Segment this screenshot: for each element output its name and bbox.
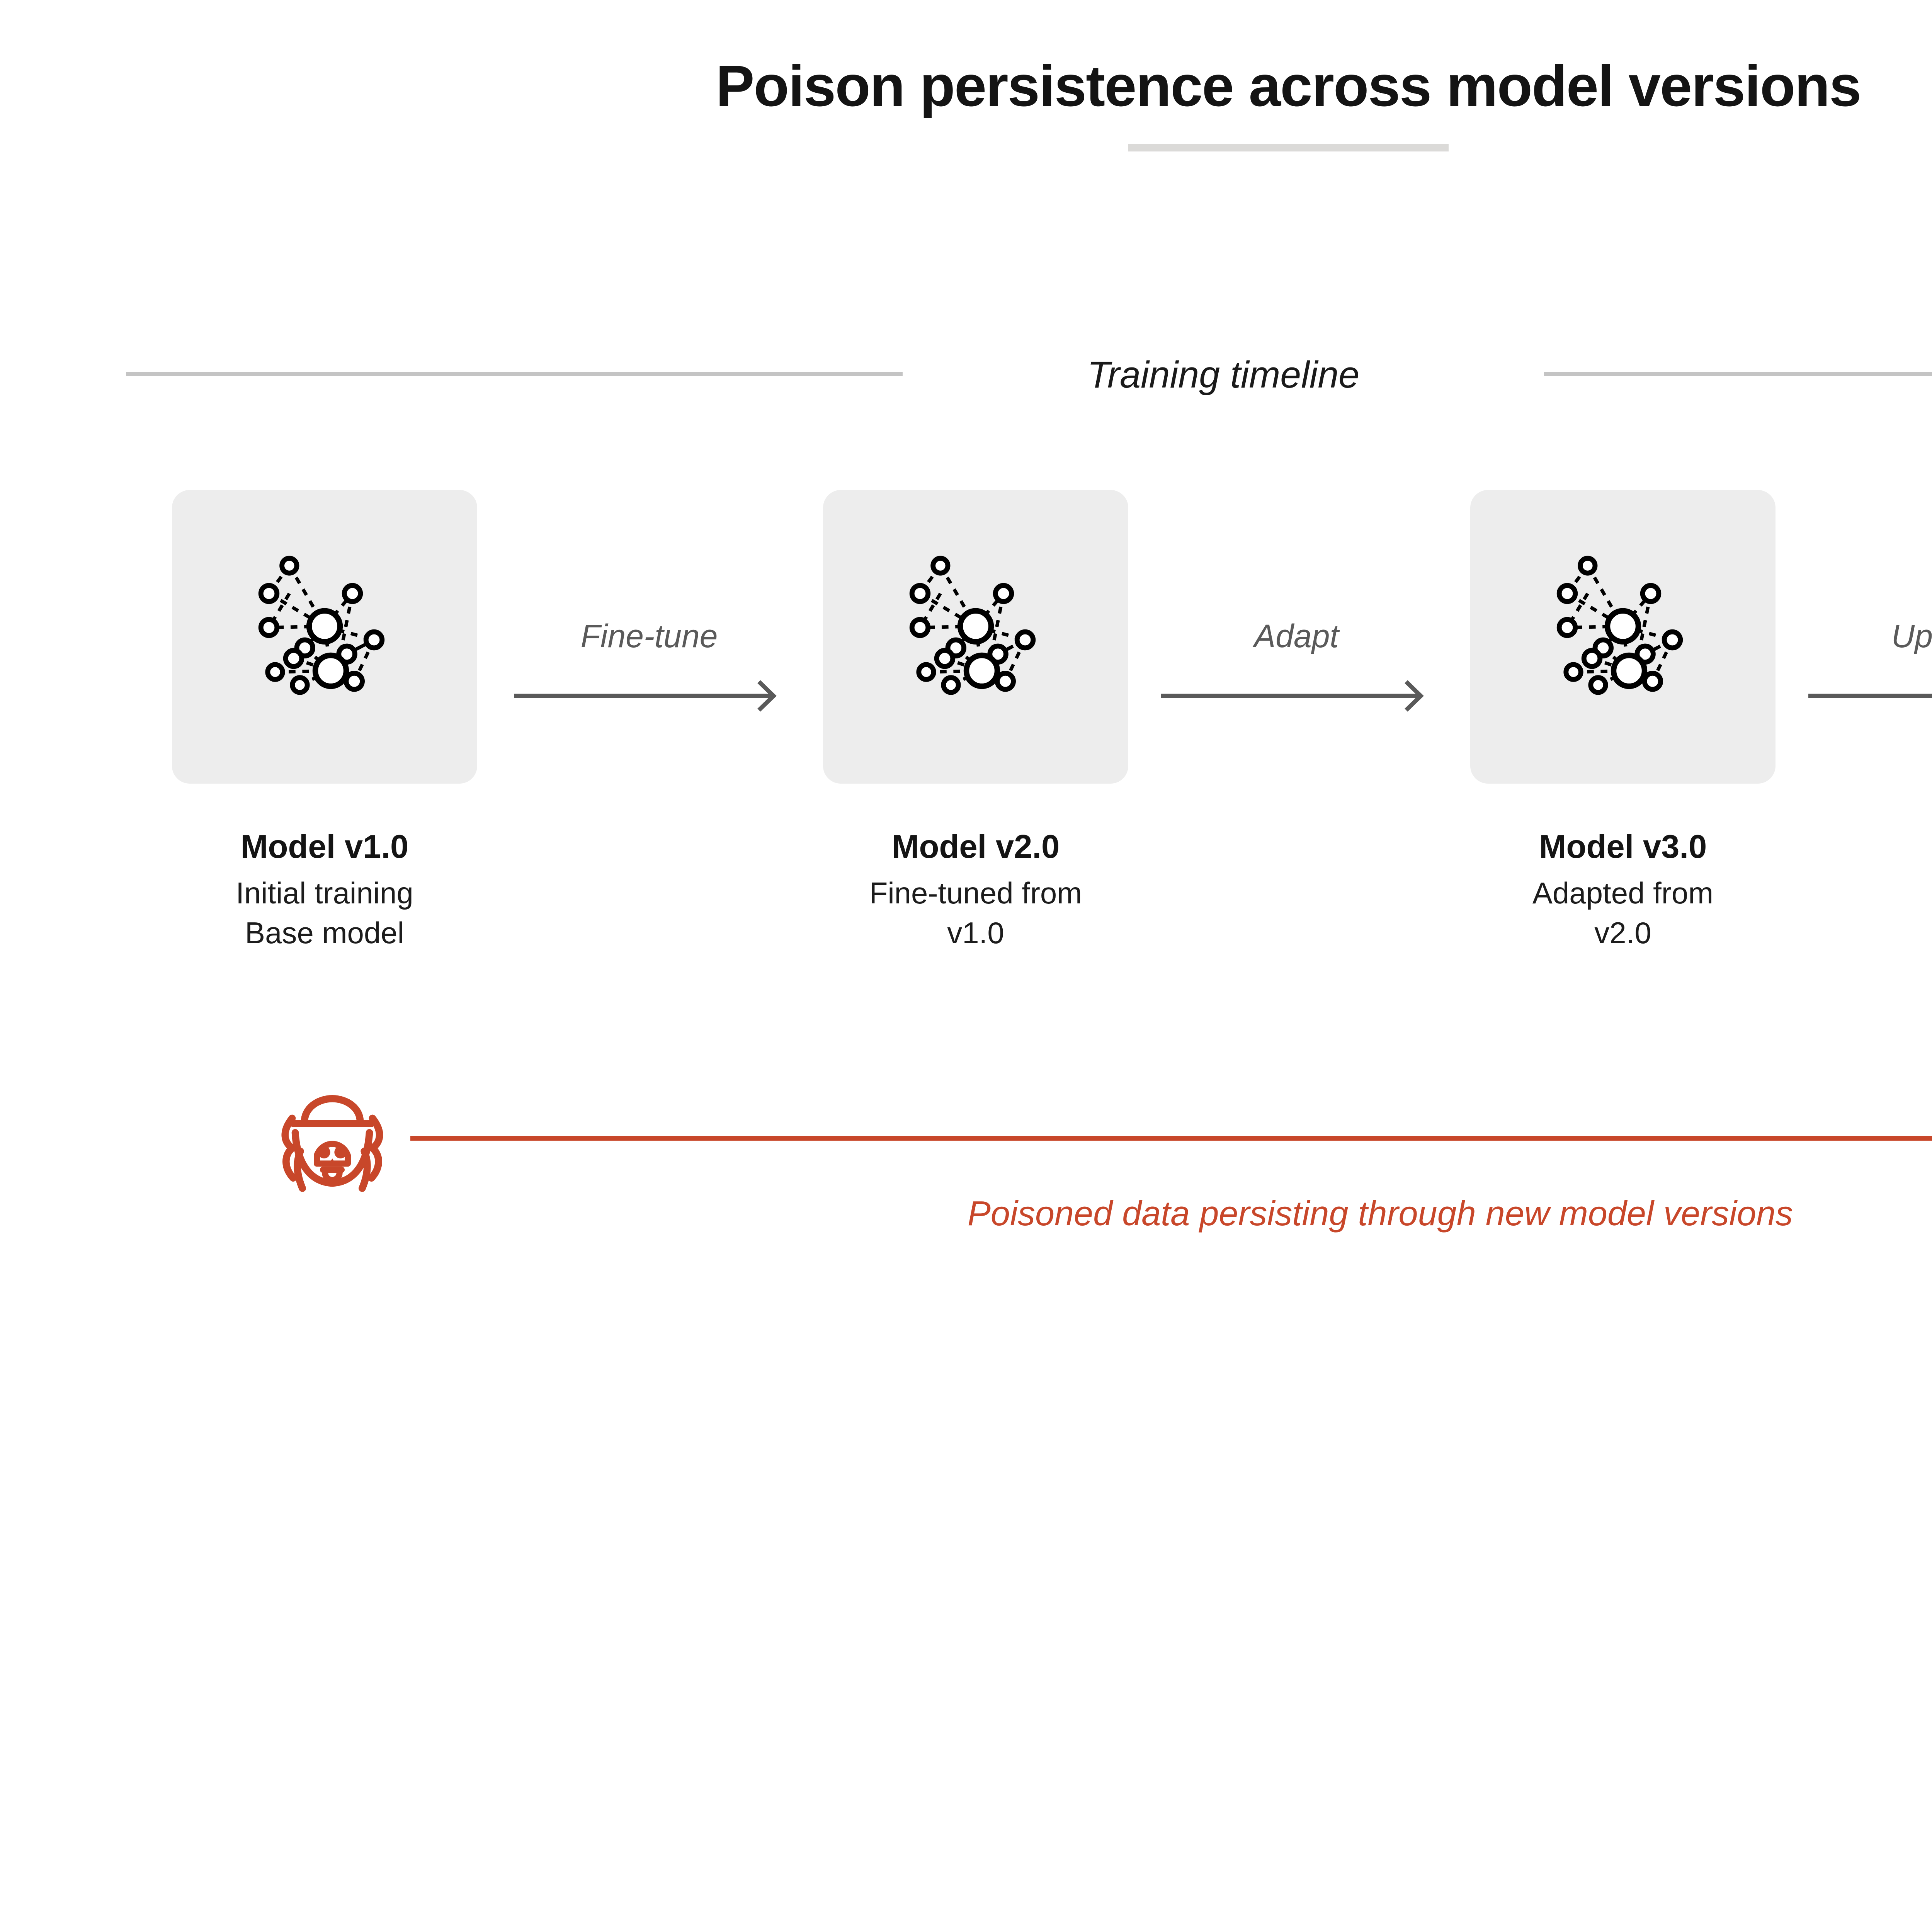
pipeline-stage-model-v3[interactable]: Model v3.0 Adapted from v2.0 bbox=[1470, 490, 1776, 953]
model-card[interactable] bbox=[172, 490, 477, 784]
neural-network-icon bbox=[883, 544, 1068, 730]
card-title: Model v3.0 bbox=[1470, 829, 1776, 865]
model-card[interactable] bbox=[823, 490, 1128, 784]
pipeline-stage-model-v2[interactable]: Model v2.0 Fine-tuned from v1.0 bbox=[823, 490, 1128, 953]
arrow-right-icon bbox=[1808, 679, 1932, 713]
title-divider bbox=[1128, 144, 1449, 151]
poison-persistence-caption: Poisoned data persisting through new mod… bbox=[410, 1194, 1932, 1234]
timeline-line-right bbox=[1544, 372, 1932, 376]
pipeline-stage-model-v1[interactable]: Model v1.0 Initial training Base model bbox=[172, 490, 477, 953]
card-description: Fine-tuned from v1.0 bbox=[823, 873, 1128, 953]
poison-cauldron-skull-icon bbox=[270, 1094, 394, 1217]
neural-network-icon bbox=[1530, 544, 1716, 730]
arrow-right-icon bbox=[514, 679, 784, 713]
title-block: Poison persistence across model versions bbox=[0, 54, 1932, 151]
pipeline-connector-update: Update bbox=[1797, 617, 1932, 726]
card-caption: Model v3.0 Adapted from v2.0 bbox=[1470, 829, 1776, 953]
page-title: Poison persistence across model versions bbox=[0, 54, 1932, 118]
connector-label: Update bbox=[1797, 617, 1932, 655]
arrow-right-icon bbox=[1161, 679, 1432, 713]
model-card[interactable] bbox=[1470, 490, 1776, 784]
timeline-label: Training timeline bbox=[903, 353, 1544, 396]
connector-label: Adapt bbox=[1150, 617, 1443, 655]
pipeline-connector-adapt: Adapt bbox=[1150, 617, 1443, 726]
poison-persistence-arrow-line bbox=[410, 1136, 1932, 1141]
connector-label: Fine-tune bbox=[502, 617, 796, 655]
training-timeline: Training timeline bbox=[0, 348, 1932, 406]
timeline-line-left bbox=[126, 372, 903, 376]
card-caption: Model v2.0 Fine-tuned from v1.0 bbox=[823, 829, 1128, 953]
card-title: Model v1.0 bbox=[172, 829, 477, 865]
pipeline-connector-fine-tune: Fine-tune bbox=[502, 617, 796, 726]
card-description: Adapted from v2.0 bbox=[1470, 873, 1776, 953]
card-caption: Model v1.0 Initial training Base model bbox=[172, 829, 477, 953]
card-title: Model v2.0 bbox=[823, 829, 1128, 865]
card-description: Initial training Base model bbox=[172, 873, 477, 953]
neural-network-icon bbox=[232, 544, 417, 730]
